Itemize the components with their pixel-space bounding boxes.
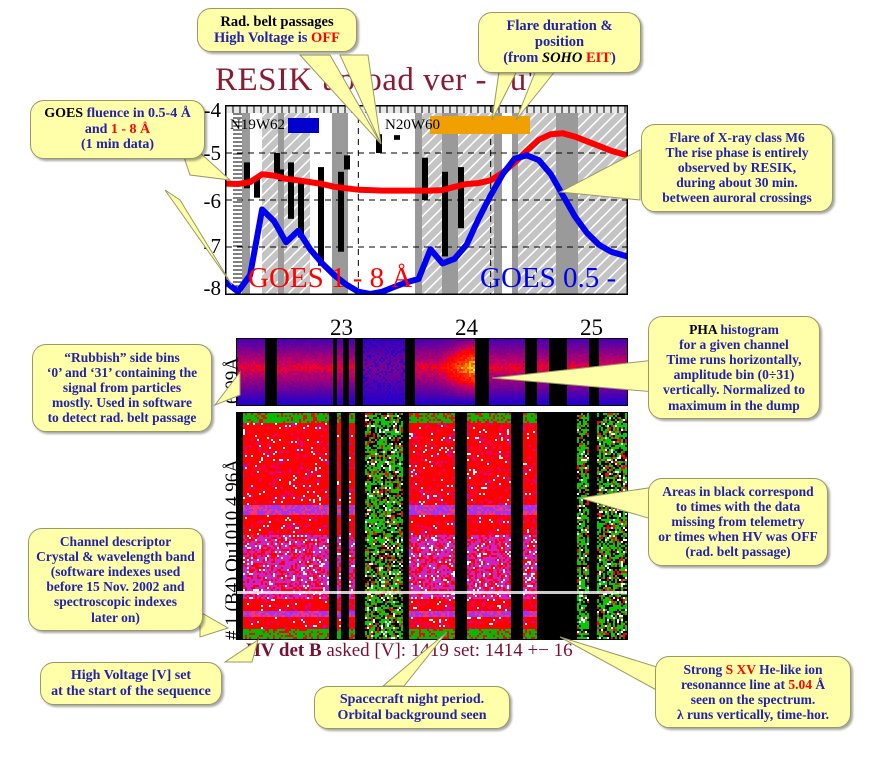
callout-flare-class-line5: between auroral crossings [649,190,825,205]
callout-black-areas-line5: (rad. belt passage) [656,544,820,559]
tail-goes-fluence-b [165,190,232,285]
callout-black-areas-line3: missing from telemetry [656,514,820,529]
tail-rubbish-bins [215,372,240,405]
callout-sulphur-line[interactable]: Strong S XV He-like ion resonannce line … [655,656,851,728]
tail-sulphur-line [560,637,660,692]
tail-flare-duration-a [492,65,520,120]
callout-rubbish-bins-line4: mostly. Used in software [40,395,204,410]
callout-flare-class-line1: Flare of X-ray class M6 [649,130,825,145]
tail-flare-duration-b [516,65,560,120]
callout-sulphur-line2: resonannce line at 5.04 Å [663,677,843,692]
callout-pha-line1: PHA histogram [656,322,812,337]
callout-channel-line4: before 15 Nov. 2002 and [36,579,195,594]
callout-black-areas-line4: or times when HV was OFF [656,529,820,544]
callout-rubbish-bins-line1: “Rubbish” side bins [40,350,204,365]
callout-goes-fluence-line2: and 1 - 8 Å [38,122,197,138]
callout-flare-duration[interactable]: Flare duration & position (from SOHO EIT… [478,12,641,73]
callout-black-areas-line1: Areas in black correspond [656,484,820,499]
callout-goes-fluence-line1: GOES fluence in 0.5-4 Å [38,106,197,122]
callout-channel-line5: spectroscopic indexes [36,594,195,609]
callout-hv-line1: High Voltage [V] set [48,668,214,684]
tail-high-voltage [225,640,258,662]
callout-channel-descriptor[interactable]: Channel descriptor Crystal & wavelength … [28,528,203,631]
tail-pha [492,360,655,392]
callout-night-line2: Orbital background seen [322,708,502,724]
callout-flare-duration-line2: (from SOHO EIT) [486,50,633,66]
callout-sulphur-line4: λ runs vertically, time-hor. [663,707,843,722]
callout-flare-class-line3: observed by RESIK, [649,160,825,175]
callout-high-voltage[interactable]: High Voltage [V] set at the start of the… [40,662,222,705]
callout-night-period[interactable]: Spacecraft night period. Orbital backgro… [314,686,510,729]
callout-rad-belt[interactable]: Rad. belt passages High Voltage is OFF [197,8,357,52]
callout-rubbish-bins-line5: to detect rad. belt passage [40,410,204,425]
callout-rad-belt-line1: Rad. belt passages [205,14,349,30]
callout-rubbish-bins[interactable]: “Rubbish” side bins ‘0’ and ‘31’ contain… [32,344,212,432]
callout-rad-belt-line2: High Voltage is OFF [205,30,349,46]
callout-flare-duration-line1: Flare duration & position [486,18,633,50]
callout-channel-line1: Channel descriptor [36,534,195,549]
callout-night-line1: Spacecraft night period. [322,692,502,708]
tail-black-areas [580,487,655,520]
callout-pha-line3: Time runs horizontally, [656,352,812,367]
callout-sulphur-line1: Strong S XV He-like ion [663,662,843,677]
callout-rubbish-bins-line2: ‘0’ and ‘31’ containing the [40,365,204,380]
callout-pha-line4: amplitude bin (0÷31) [656,367,812,382]
callout-channel-line3: (software indexes used [36,564,195,579]
callout-pha-histogram[interactable]: PHA histogram for a given channel Time r… [648,316,820,419]
callout-goes-fluence-line3: (1 min data) [38,137,197,153]
callout-channel-line2: Crystal & wavelength band [36,549,195,564]
callout-sulphur-line3: seen on the spectrum. [663,692,843,707]
tail-channel-descriptor [200,612,228,637]
callout-channel-line6: later on) [36,610,195,625]
callout-black-areas[interactable]: Areas in black correspond to times with … [648,478,828,566]
callout-hv-line2: at the start of the sequence [48,684,214,700]
callout-black-areas-line2: to times with the data [656,499,820,514]
callout-pha-line2: for a given channel [656,337,812,352]
callout-flare-class-line4: during about 30 min. [649,175,825,190]
callout-pha-line5: vertically. Normalized to [656,382,812,397]
tail-night-period [383,632,447,686]
callout-flare-class[interactable]: Flare of X-ray class M6 The rise phase i… [641,124,833,212]
callout-pha-line6: maximum in the dump [656,398,812,413]
tail-flare-class [560,150,640,200]
callout-rubbish-bins-line3: signal from particles [40,380,204,395]
callout-flare-class-line2: The rise phase is entirely [649,145,825,160]
callout-goes-fluence[interactable]: GOES fluence in 0.5-4 Å and 1 - 8 Å (1 m… [30,100,205,159]
